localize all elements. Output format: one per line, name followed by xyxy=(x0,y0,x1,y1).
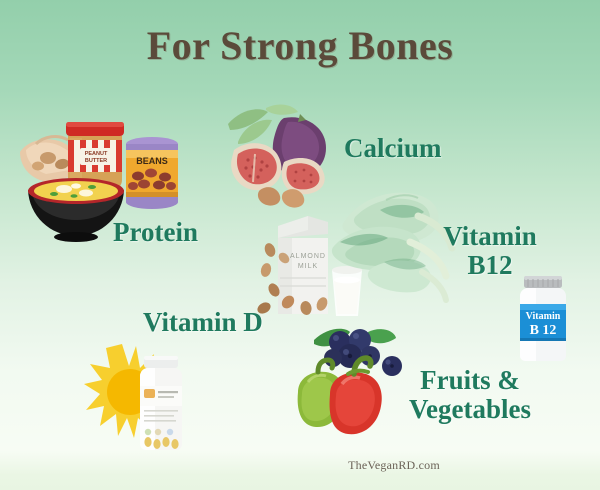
b12-bottle-illustration: Vitamin B 12 xyxy=(508,274,578,364)
soup-bowl-icon xyxy=(28,178,124,242)
infographic-canvas: For Strong Bones xyxy=(0,0,600,490)
svg-text:PEANUT: PEANUT xyxy=(85,151,108,157)
beans-can-icon: BEANS xyxy=(126,137,178,209)
label-calcium: Calcium xyxy=(344,134,442,163)
vitamin-d-illustration xyxy=(82,340,212,460)
svg-text:MILK: MILK xyxy=(298,263,318,270)
label-fruits-vegetables: Fruits & Vegetables xyxy=(390,366,550,424)
b12-supplement-bottle-icon: Vitamin B 12 xyxy=(520,276,566,361)
svg-text:BEANS: BEANS xyxy=(136,156,168,166)
label-vitamin-d: Vitamin D xyxy=(143,308,263,337)
svg-text:B 12: B 12 xyxy=(530,323,557,338)
svg-text:ALMOND: ALMOND xyxy=(290,253,326,260)
footer-attribution: TheVeganRD.com xyxy=(0,458,600,473)
vitamin-d-bottle-icon xyxy=(140,356,182,450)
svg-text:BUTTER: BUTTER xyxy=(85,158,107,164)
svg-text:Vitamin: Vitamin xyxy=(526,311,561,322)
page-title: For Strong Bones xyxy=(0,22,600,69)
red-bell-pepper-icon xyxy=(330,358,382,434)
label-protein: Protein xyxy=(113,218,198,247)
label-vitamin-b12: Vitamin B12 xyxy=(430,222,550,280)
footer-text: TheVeganRD.com xyxy=(348,458,440,472)
